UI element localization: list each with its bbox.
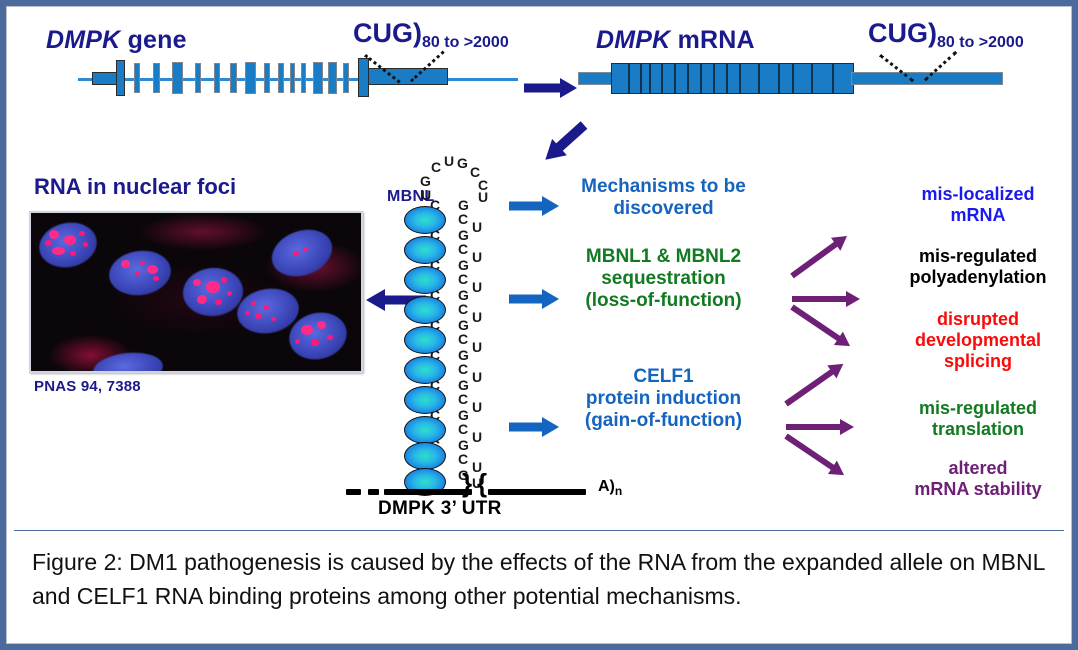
mechanism-line: MBNL1 & MBNL2 bbox=[556, 246, 771, 268]
mrna-exon-divider bbox=[649, 64, 651, 93]
rna-focus bbox=[83, 242, 88, 247]
stem-nt-right: C bbox=[458, 302, 468, 316]
mrna-exon-divider bbox=[700, 64, 702, 93]
arrow-gene-to-mrna bbox=[524, 78, 578, 98]
stem-nt-right: C bbox=[458, 452, 468, 466]
rna-focus bbox=[245, 311, 250, 315]
gene-exon bbox=[214, 63, 220, 93]
stem-nt-right: G bbox=[458, 408, 469, 422]
gene-exon bbox=[230, 63, 237, 93]
hairpin-loop-nt: G bbox=[457, 156, 468, 170]
outcome-mis-regulated-translation: mis-regulated translation bbox=[878, 398, 1078, 440]
outcome-line: translation bbox=[878, 419, 1078, 440]
outcome-line: disrupted bbox=[878, 309, 1078, 330]
dmpk-mrna-title-italic: DMPK bbox=[596, 26, 670, 54]
mechanism-mechanisms-to-be-discovered: Mechanisms to be discovered bbox=[556, 176, 771, 220]
stem-nt-right: C bbox=[458, 332, 468, 346]
mbnl-protein bbox=[404, 356, 446, 384]
gene-exon bbox=[313, 62, 323, 94]
rna-focus bbox=[251, 301, 256, 306]
rna-focus bbox=[206, 281, 220, 293]
gene-exon bbox=[172, 62, 183, 94]
mbnl-protein bbox=[404, 266, 446, 294]
outcome-line: mis-localized bbox=[878, 184, 1078, 205]
utr-line-left bbox=[384, 489, 472, 495]
outcome-line: mis-regulated bbox=[878, 246, 1078, 267]
rna-focus bbox=[49, 230, 59, 239]
hairpin-loop-nt: G bbox=[420, 174, 431, 188]
stem-nt-right: G bbox=[458, 228, 469, 242]
stem-nt-right: G bbox=[458, 348, 469, 362]
stem-bulge-right: U bbox=[472, 250, 482, 264]
rna-focus bbox=[227, 291, 232, 296]
polya-tail-label: A)n bbox=[598, 478, 622, 496]
arrow-to-mechanisms-discovered bbox=[509, 196, 561, 216]
rna-focus bbox=[263, 305, 269, 310]
rna-focus bbox=[121, 260, 130, 268]
stem-bulge-right: U bbox=[472, 280, 482, 294]
stem-nt-right: G bbox=[458, 438, 469, 452]
polya-subscript: n bbox=[615, 484, 622, 498]
stem-nt-right: C bbox=[458, 362, 468, 376]
figure-caption-text: Figure 2: DM1 pathogenesis is caused by … bbox=[32, 545, 1046, 613]
hairpin-loop-nt: U bbox=[478, 190, 488, 204]
mechanism-line: CELF1 bbox=[556, 366, 771, 388]
hairpin-loop-nt: U bbox=[444, 154, 454, 168]
mrna-exon-divider bbox=[739, 64, 741, 93]
stem-bulge-right: U bbox=[472, 340, 482, 354]
outcome-line: mis-regulated bbox=[878, 398, 1078, 419]
outcome-line: mRNA stability bbox=[878, 479, 1078, 500]
hairpin-loop-nt: C bbox=[431, 160, 441, 174]
utr-dash-segment bbox=[346, 489, 361, 495]
utr-brace-left: } bbox=[462, 468, 472, 499]
gene-exon bbox=[264, 63, 270, 93]
stem-nt-right: C bbox=[458, 422, 468, 436]
mrna-coding-body bbox=[611, 63, 854, 94]
stem-nt-right: G bbox=[458, 378, 469, 392]
utr-brace-right: { bbox=[477, 468, 487, 499]
mrna-exon-divider bbox=[726, 64, 728, 93]
mrna-exon-divider bbox=[661, 64, 663, 93]
mrna-exon-divider bbox=[628, 64, 630, 93]
dmpk-gene-title: DMPK gene bbox=[46, 26, 187, 55]
mechanism-line: (gain-of-function) bbox=[556, 410, 771, 432]
rna-focus bbox=[135, 271, 140, 276]
gene-exon bbox=[134, 63, 140, 93]
rna-focus bbox=[70, 251, 76, 256]
rna-focus bbox=[153, 276, 159, 281]
mechanism-line: Mechanisms to be bbox=[556, 176, 771, 198]
figure-panel: DMPK gene CUG)80 to >2000 DMPK mRNA CUG)… bbox=[0, 0, 1078, 650]
mbnl-protein bbox=[404, 206, 446, 234]
gene-exon bbox=[245, 62, 256, 94]
mbnl-protein bbox=[404, 236, 446, 264]
stem-nt-right: C bbox=[458, 212, 468, 226]
stem-nt-right: C bbox=[458, 242, 468, 256]
rna-focus bbox=[197, 295, 207, 304]
rna-focus bbox=[255, 313, 262, 319]
dmpk-gene-title-rest: gene bbox=[120, 26, 186, 54]
rna-focus bbox=[52, 247, 65, 255]
mechanism-celf1-induction: CELF1 protein induction (gain-of-functio… bbox=[556, 366, 771, 432]
mbnl-protein bbox=[404, 296, 446, 324]
rna-focus bbox=[271, 317, 276, 321]
gene-exon bbox=[195, 63, 201, 93]
mbnl-protein bbox=[404, 326, 446, 354]
mrna-exon-divider bbox=[758, 64, 760, 93]
gene-exon bbox=[343, 63, 349, 93]
gene-cug-repeat-label: CUG)80 to >2000 bbox=[353, 18, 509, 49]
outcome-disrupted-developmental-splicing: disrupted developmental splicing bbox=[878, 309, 1078, 372]
gene-backbone bbox=[78, 78, 518, 81]
outcome-altered-mrna-stability: altered mRNA stability bbox=[878, 458, 1078, 500]
rna-focus bbox=[140, 261, 145, 265]
gene-exon bbox=[153, 63, 160, 93]
mbnl-protein bbox=[404, 386, 446, 414]
mechanism-line: sequestration bbox=[556, 268, 771, 290]
stem-nt-right: G bbox=[458, 288, 469, 302]
utr-line-right bbox=[488, 489, 586, 495]
rna-focus bbox=[311, 339, 319, 346]
mrna-exon-divider bbox=[640, 64, 642, 93]
stem-nt-right: G bbox=[458, 318, 469, 332]
dmpk-gene-title-italic: DMPK bbox=[46, 26, 120, 54]
gene-exon bbox=[328, 62, 337, 94]
rna-focus bbox=[221, 277, 227, 283]
rna-focus bbox=[317, 321, 326, 329]
rna-focus bbox=[293, 251, 299, 256]
nuclear-foci-micrograph bbox=[29, 211, 363, 373]
gene-exon bbox=[290, 63, 295, 93]
gene-3utr-block bbox=[368, 68, 448, 85]
arrow-to-celf1-induction bbox=[509, 417, 561, 437]
gene-cug-subscript: 80 to >2000 bbox=[422, 34, 509, 51]
rna-focus bbox=[295, 339, 300, 344]
rna-focus bbox=[303, 247, 308, 251]
dmpk-3utr-label: DMPK 3’ UTR bbox=[378, 498, 502, 520]
arrow-to-mbnl-sequestration bbox=[509, 289, 561, 309]
rna-focus bbox=[301, 325, 313, 335]
mrna-exon-divider bbox=[832, 64, 834, 93]
rna-focus bbox=[79, 231, 85, 236]
mrna-exon-divider bbox=[792, 64, 794, 93]
mrna-5prime-tail bbox=[578, 72, 614, 85]
outcome-line: mRNA bbox=[878, 205, 1078, 226]
gene-exon-first-stem bbox=[116, 60, 125, 96]
stem-bulge-right: U bbox=[472, 370, 482, 384]
rna-focus bbox=[45, 240, 52, 246]
gene-cug-text: CUG) bbox=[353, 18, 422, 48]
stem-bulge-right: U bbox=[472, 310, 482, 324]
stem-nt-right: G bbox=[458, 258, 469, 272]
outcome-mis-localized-mrna: mis-localized mRNA bbox=[878, 184, 1078, 226]
gene-exon bbox=[278, 63, 284, 93]
micrograph-title: RNA in nuclear foci bbox=[34, 174, 236, 200]
mrna-exon-divider bbox=[778, 64, 780, 93]
mrna-cug-repeat-label: CUG)80 to >2000 bbox=[868, 18, 1024, 49]
rna-focus bbox=[147, 265, 158, 274]
mrna-exon-divider bbox=[811, 64, 813, 93]
mechanism-line: discovered bbox=[556, 198, 771, 220]
dmpk-mrna-title: DMPK mRNA bbox=[596, 26, 755, 55]
outcome-mis-regulated-polyadenylation: mis-regulated polyadenylation bbox=[878, 246, 1078, 288]
dmpk-mrna-title-rest: mRNA bbox=[670, 26, 754, 54]
stem-bulge-right: U bbox=[472, 400, 482, 414]
micrograph-citation: PNAS 94, 7388 bbox=[34, 378, 141, 395]
mrna-exon-divider bbox=[687, 64, 689, 93]
mechanism-line: (loss-of-function) bbox=[556, 290, 771, 312]
rna-focus bbox=[64, 235, 76, 245]
stem-bulge-right: U bbox=[472, 220, 482, 234]
outcome-line: polyadenylation bbox=[878, 267, 1078, 288]
arrow-outcome-5 bbox=[786, 419, 862, 435]
rna-focus bbox=[215, 299, 222, 305]
mechanism-mbnl-sequestration: MBNL1 & MBNL2 sequestration (loss-of-fun… bbox=[556, 246, 771, 312]
outcome-line: developmental bbox=[878, 330, 1078, 351]
outcome-line: altered bbox=[878, 458, 1078, 479]
mechanism-line: protein induction bbox=[556, 388, 771, 410]
mrna-cug-subscript: 80 to >2000 bbox=[937, 34, 1024, 51]
polya-text: A) bbox=[598, 478, 615, 495]
mbnl-protein bbox=[404, 442, 446, 470]
outcome-line: splicing bbox=[878, 351, 1078, 372]
rna-focus bbox=[193, 279, 201, 286]
gene-exon bbox=[301, 63, 306, 93]
mrna-exon-divider bbox=[674, 64, 676, 93]
figure-caption: Figure 2: DM1 pathogenesis is caused by … bbox=[14, 530, 1064, 638]
stem-nt-right: C bbox=[458, 392, 468, 406]
stem-nt-right: G bbox=[458, 198, 469, 212]
utr-dash-segment bbox=[368, 489, 379, 495]
mbnl-protein bbox=[404, 416, 446, 444]
stem-bulge-right: U bbox=[472, 430, 482, 444]
rna-focus bbox=[327, 335, 333, 340]
mrna-exon-divider bbox=[713, 64, 715, 93]
mrna-cug-text: CUG) bbox=[868, 18, 937, 48]
stem-nt-right: C bbox=[458, 272, 468, 286]
